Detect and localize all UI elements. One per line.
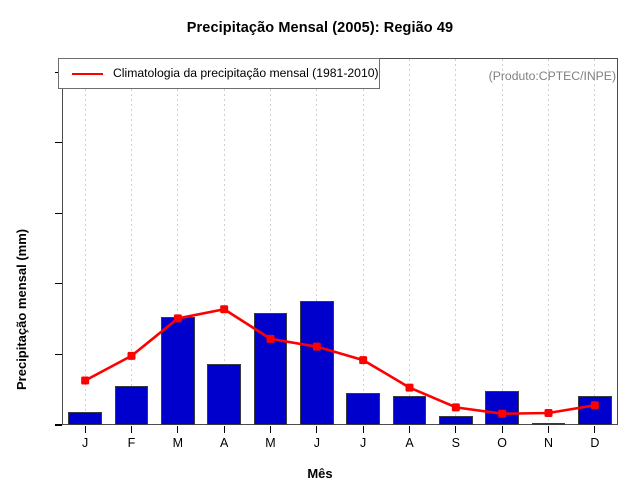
bar [393, 396, 426, 425]
bar [578, 396, 611, 425]
legend-label: Climatologia da precipitação mensal (198… [113, 66, 379, 80]
produto-credit: (Produto:CPTEC/INPE) [489, 69, 616, 83]
legend-line-swatch [72, 73, 103, 75]
bar [207, 364, 240, 425]
bar [161, 317, 194, 425]
bar [254, 313, 287, 425]
bar [532, 423, 565, 425]
bar [485, 391, 518, 425]
bar [439, 416, 472, 425]
precipitation-chart: Precipitação Mensal (2005): Região 49 Pr… [0, 0, 640, 500]
bar [346, 393, 379, 425]
legend: Climatologia da precipitação mensal (198… [58, 58, 380, 89]
bar [68, 412, 101, 425]
bar [300, 301, 333, 425]
bar [115, 386, 148, 425]
